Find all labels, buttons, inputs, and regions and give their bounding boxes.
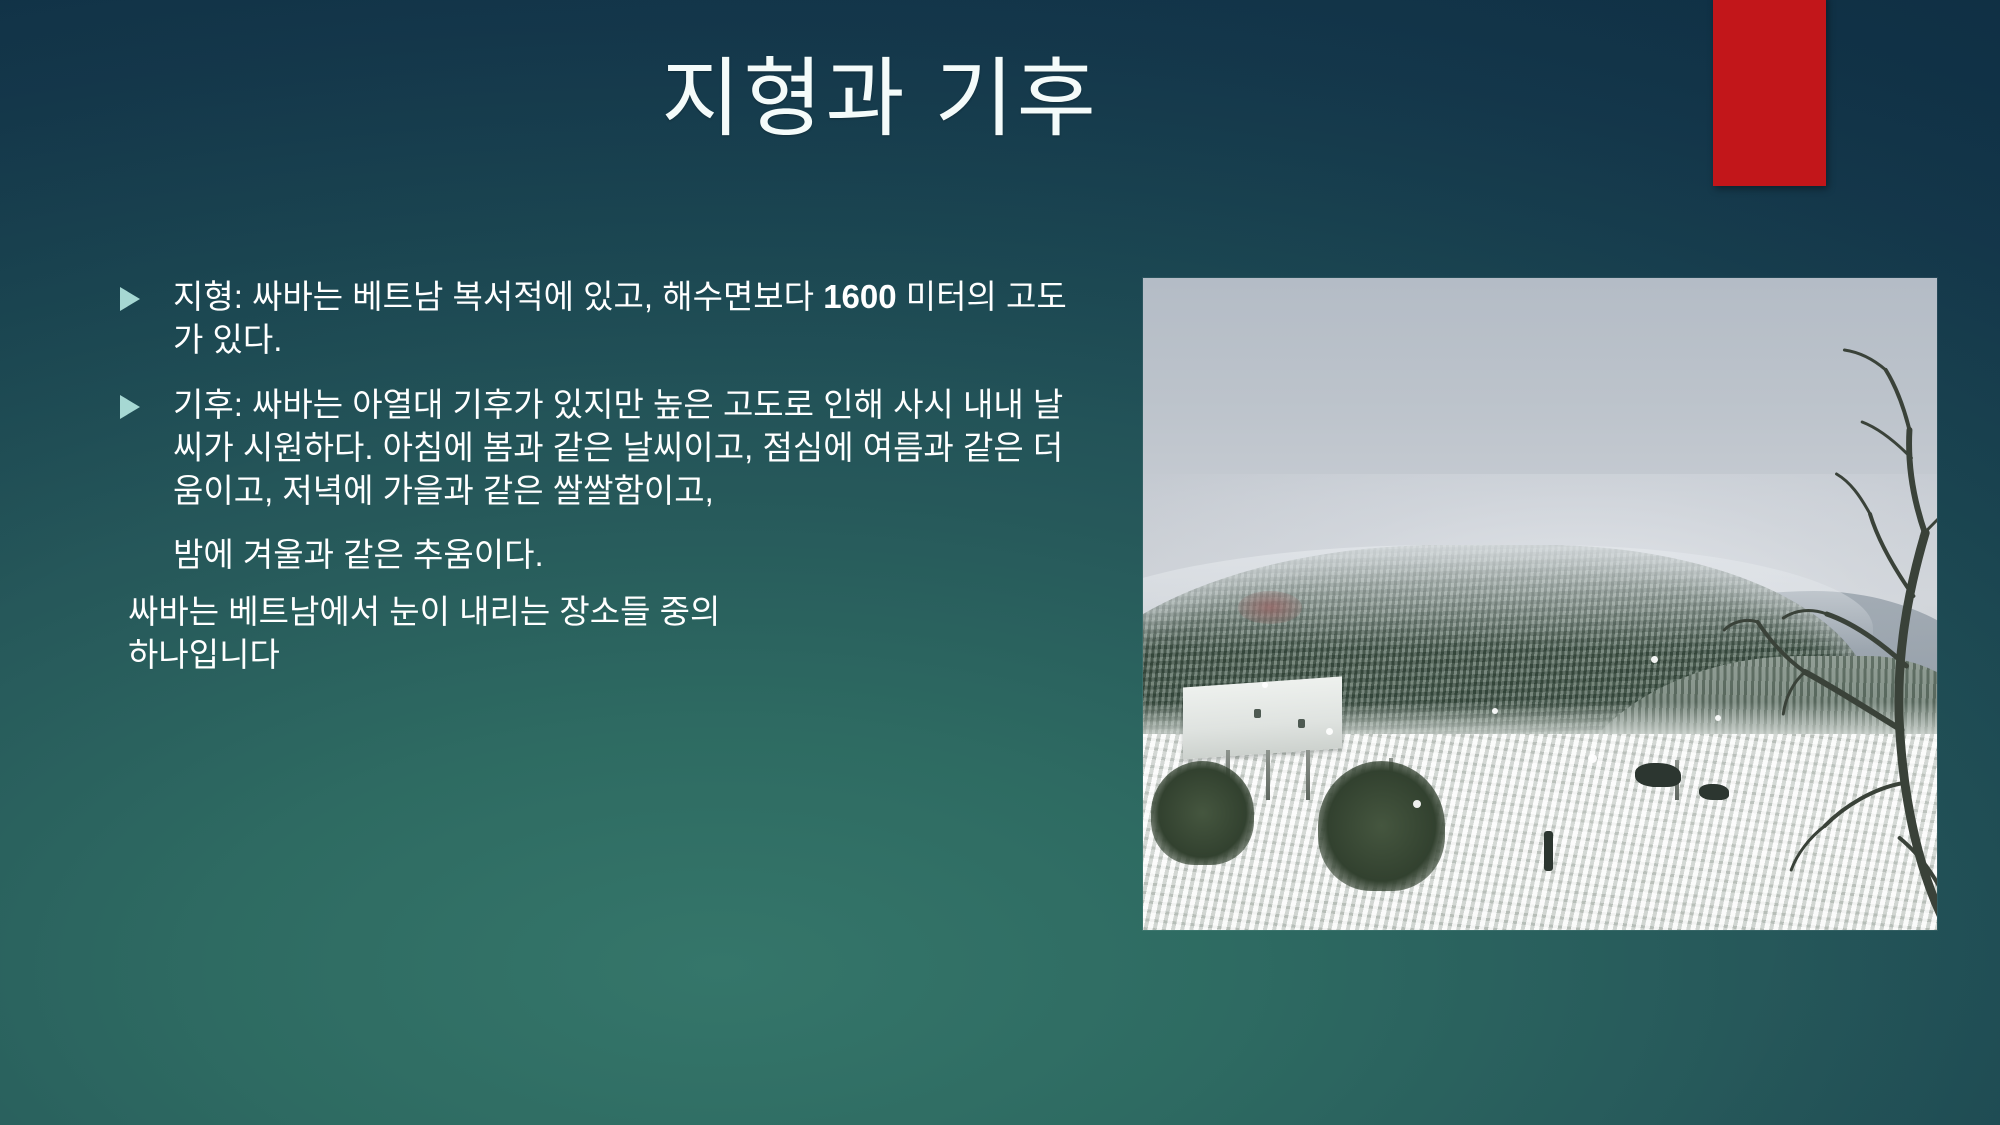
photo-shrub (1318, 761, 1445, 891)
triangle-bullet-icon (120, 395, 140, 419)
snowy-mountain-photo (1143, 278, 1937, 930)
page-title: 지형과 기후 (0, 52, 1760, 147)
photo-illustration (1143, 278, 1937, 930)
photo-rock (1699, 784, 1729, 800)
bullet-1-text-before: 지형: 싸바는 베트남 복서적에 있고, 해수면보다 (173, 278, 823, 315)
list-item-text: 기후: 싸바는 아열대 기후가 있지만 높은 고도로 인해 사시 내내 날씨가 … (173, 384, 1078, 513)
bullet-1-bold-number: 1600 (823, 278, 896, 315)
photo-fence-post (1306, 750, 1310, 800)
photo-snow-fleck (1413, 800, 1421, 808)
photo-post (1544, 831, 1553, 871)
paragraph-snow: 싸바는 베트남에서 눈이 내리는 장소들 중의 하나입니다 (128, 591, 1078, 677)
photo-rock (1635, 763, 1681, 787)
photo-snow-fleck (1715, 715, 1721, 721)
list-item-text: 지형: 싸바는 베트남 복서적에 있고, 해수면보다 1600 미터의 고도가 … (173, 276, 1078, 362)
photo-wall-window (1298, 719, 1305, 728)
paragraph-night: 밤에 겨울과 같은 추움이다. (118, 534, 1078, 577)
photo-snow-fleck (1326, 728, 1333, 735)
photo-wall-window (1254, 709, 1261, 718)
photo-snowfield (1143, 734, 1937, 930)
photo-shrub (1151, 761, 1254, 865)
photo-fence-post (1266, 750, 1270, 800)
triangle-bullet-icon (120, 287, 140, 311)
slide-canvas: 지형과 기후 지형: 싸바는 베트남 복서적에 있고, 해수면보다 1600 미… (0, 0, 2000, 1125)
body-content: 지형: 싸바는 베트남 복서적에 있고, 해수면보다 1600 미터의 고도가 … (118, 276, 1078, 691)
photo-red-patch (1238, 591, 1302, 624)
photo-stone-wall (1183, 677, 1342, 760)
list-item: 지형: 싸바는 베트남 복서적에 있고, 해수면보다 1600 미터의 고도가 … (118, 276, 1078, 362)
list-item: 기후: 싸바는 아열대 기후가 있지만 높은 고도로 인해 사시 내내 날씨가 … (118, 384, 1078, 513)
photo-snow-fleck (1588, 754, 1597, 763)
